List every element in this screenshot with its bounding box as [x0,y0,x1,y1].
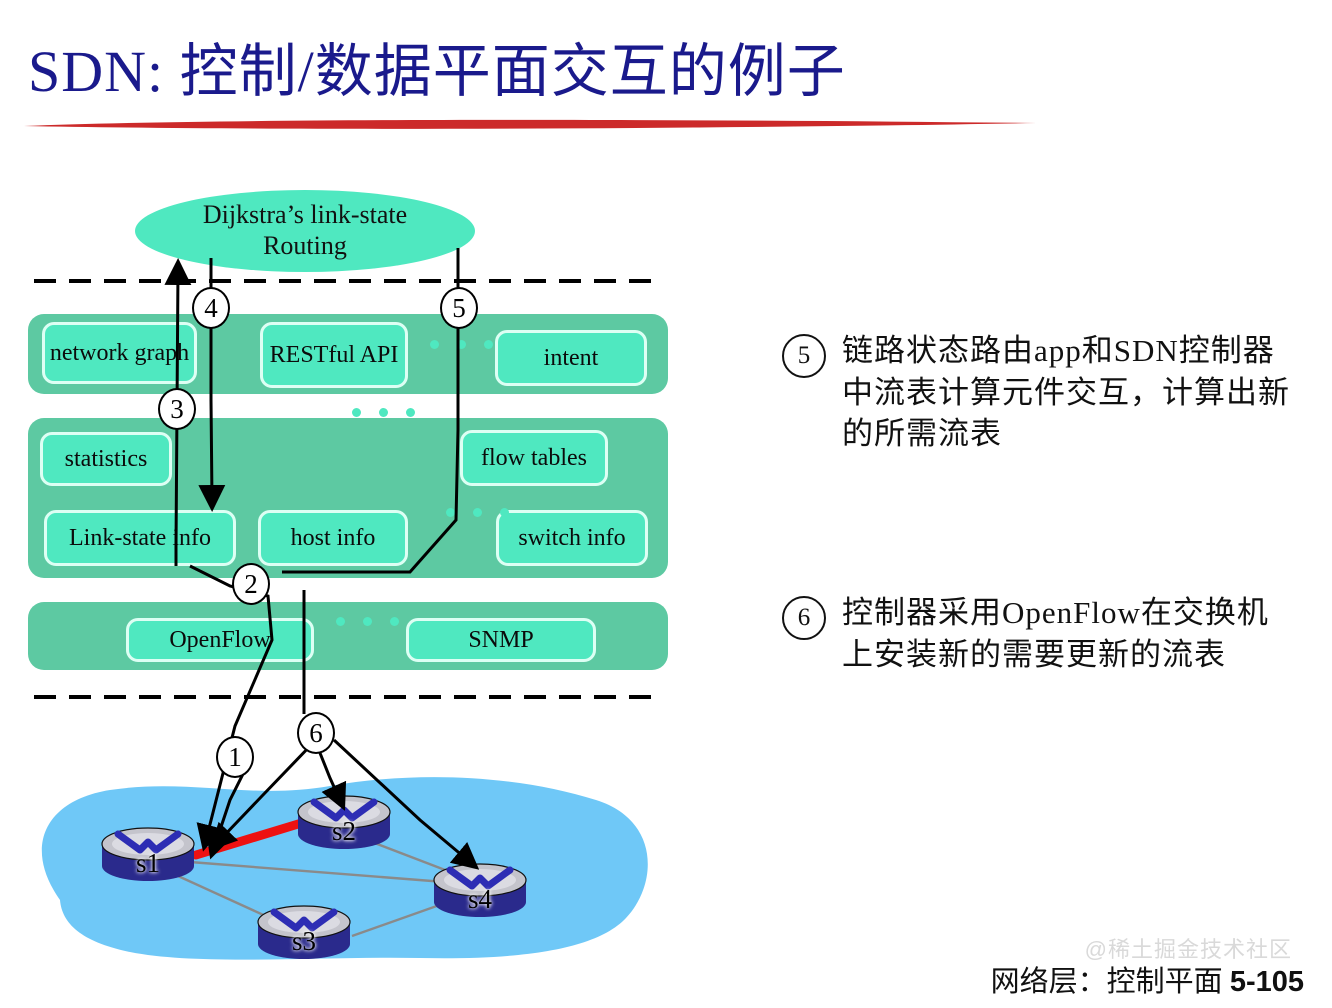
routing-app-line2: Routing [263,231,347,260]
chip-flow-tables-label: flow tables [481,445,587,472]
router-icon [252,900,356,962]
chip-intent-label: intent [544,345,599,372]
chip-link-state-info-label: Link-state info [69,525,211,552]
southbound-ellipsis-dots [336,617,399,626]
switch-node-s4[interactable]: s4 [428,858,532,920]
controller-ellipsis-dots-top [352,408,415,417]
callout-circle-5[interactable]: 5 [440,287,478,329]
footer: 网络层：控制平面 5-105 [991,958,1304,1000]
footer-page-number: 5-105 [1230,966,1304,998]
bullet-text-5: 链路状态路由app和SDN控制器中流表计算元件交互，计算出新的所需流表 [842,330,1290,455]
router-icon [292,790,396,852]
callout-circle-3[interactable]: 3 [158,388,196,430]
chip-switch-info[interactable]: switch info [496,510,648,566]
chip-openflow-label: OpenFlow [169,627,270,654]
chip-network-graph-label: network graph [50,340,189,367]
bullet-text-6: 控制器采用OpenFlow在交换机上安装新的需要更新的流表 [842,592,1290,675]
northbound-ellipsis-dots [430,340,493,349]
bullet-item-6: 6 控制器采用OpenFlow在交换机上安装新的需要更新的流表 [782,592,1290,675]
chip-restful-api[interactable]: RESTful API [260,322,408,388]
chip-network-graph[interactable]: network graph [42,322,197,384]
callout-circle-1[interactable]: 1 [216,736,254,778]
callout-circle-6[interactable]: 6 [297,712,335,754]
chip-intent[interactable]: intent [495,330,647,386]
chip-statistics-label: statistics [65,446,148,473]
bullet-marker-6: 6 [782,596,826,640]
switch-node-s3[interactable]: s3 [252,900,356,962]
chip-link-state-info[interactable]: Link-state info [44,510,236,566]
chip-snmp[interactable]: SNMP [406,618,596,662]
callout-circle-4[interactable]: 4 [192,287,230,329]
controller-ellipsis-dots-bottom [446,508,509,517]
switch-node-s2[interactable]: s2 [292,790,396,852]
chip-switch-info-label: switch info [518,525,625,552]
router-icon [96,822,200,884]
chip-openflow[interactable]: OpenFlow [126,618,314,662]
chip-restful-api-label: RESTful API [270,342,399,369]
slide-canvas: SDN: 控制/数据平面交互的例子 Dijkstra’s link-state … [0,0,1332,1008]
chip-statistics[interactable]: statistics [40,432,172,486]
callout-circle-2[interactable]: 2 [232,563,270,605]
routing-app-ellipse[interactable]: Dijkstra’s link-state Routing [135,190,475,272]
chip-host-info[interactable]: host info [258,510,408,566]
chip-flow-tables[interactable]: flow tables [460,430,608,486]
chip-snmp-label: SNMP [468,627,533,654]
router-icon [428,858,532,920]
bullet-marker-5: 5 [782,334,826,378]
routing-app-line1: Dijkstra’s link-state [203,200,407,229]
title-underline-stroke [20,118,1040,130]
page-title: SDN: 控制/数据平面交互的例子 [28,24,846,108]
footer-label: 网络层：控制平面 [991,966,1223,998]
switch-node-s1[interactable]: s1 [96,822,200,884]
bullet-item-5: 5 链路状态路由app和SDN控制器中流表计算元件交互，计算出新的所需流表 [782,330,1290,455]
chip-host-info-label: host info [291,525,376,552]
